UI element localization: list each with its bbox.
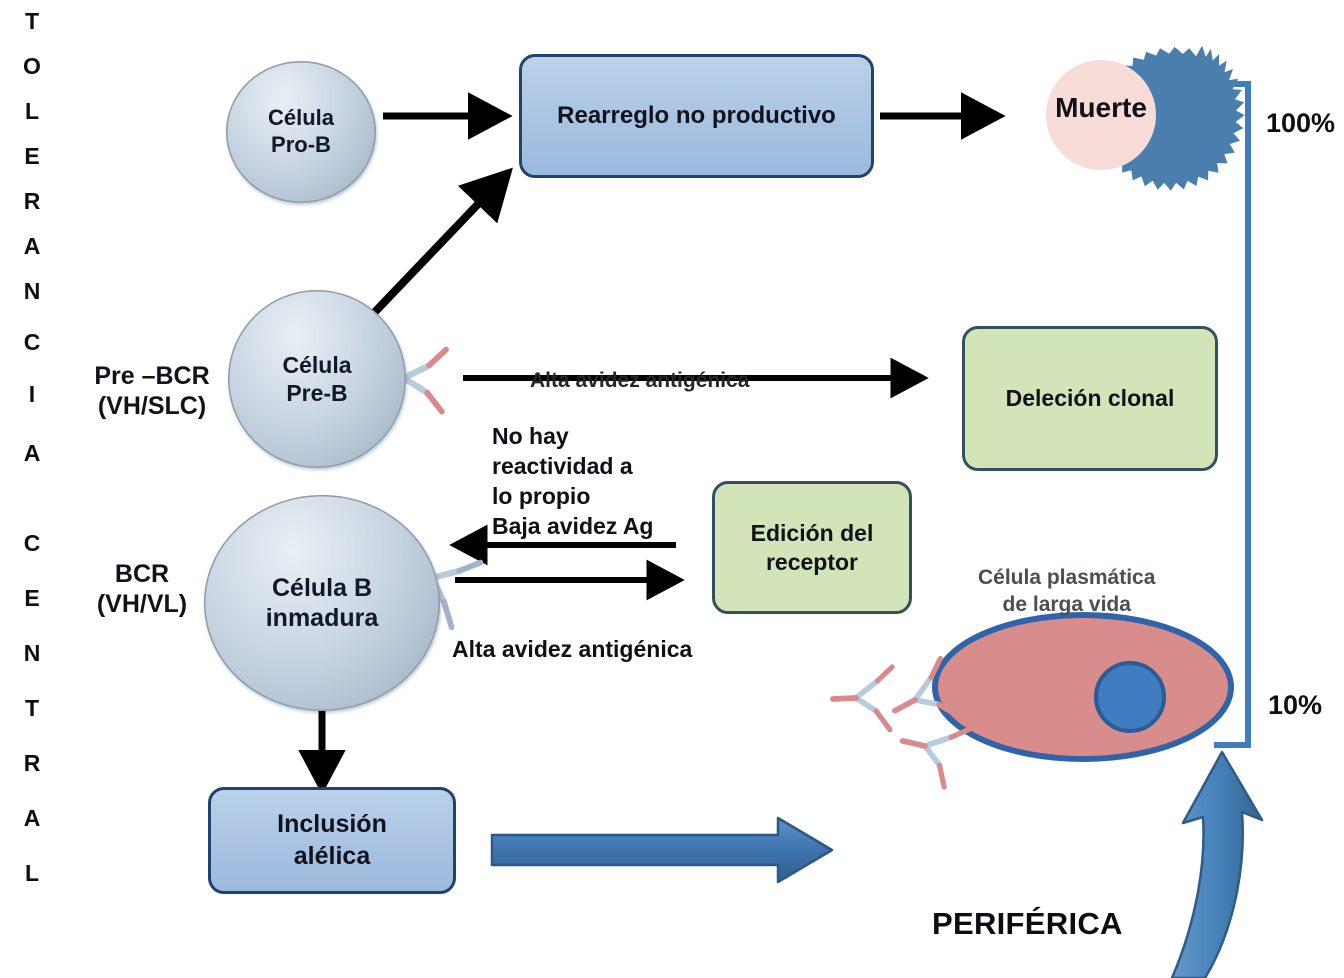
label-bcr-text: BCR (VH/VL) bbox=[97, 560, 187, 619]
label-bcr: BCR (VH/VL) bbox=[62, 528, 222, 620]
box-allelic-inclusion[interactable]: Inclusión alélica bbox=[208, 787, 456, 894]
cell-immature-b[interactable]: Célula B inmadura bbox=[204, 495, 440, 711]
death-label-text: Muerte bbox=[1055, 92, 1147, 123]
box-clonal-deletion[interactable]: Deleción clonal bbox=[962, 326, 1218, 471]
box-non-productive-rearrangement[interactable]: Rearreglo no productivo bbox=[519, 54, 874, 178]
cell-pro-b-label: Célula Pro-B bbox=[268, 105, 334, 159]
cell-pro-b[interactable]: Célula Pro-B bbox=[226, 61, 376, 203]
label-high-avidity-bottom: Alta avidez antigénica bbox=[452, 605, 692, 665]
label-pre-bcr: Pre –BCR (VH/SLC) bbox=[72, 330, 232, 422]
label-periferica-text: PERIFÉRICA bbox=[932, 906, 1123, 941]
box-allelic-inclusion-label: Inclusión alélica bbox=[277, 809, 387, 872]
label-high-avidity-top: Alta avidez antigénica bbox=[530, 340, 749, 395]
antibody-icon-secreted bbox=[829, 667, 905, 740]
diagram-canvas: T O L E R A N C I A C E N T R A L bbox=[0, 0, 1344, 978]
box-receptor-editing-label: Edición del receptor bbox=[751, 519, 874, 577]
antibody-icon-secreted bbox=[897, 720, 969, 789]
label-high-avidity-bottom-text: Alta avidez antigénica bbox=[452, 636, 692, 662]
death-burst-label: Muerte bbox=[1026, 92, 1176, 124]
label-no-self-reactivity-text: No hay reactividad a lo propio Baja avid… bbox=[492, 423, 653, 539]
box-non-productive-label: Rearreglo no productivo bbox=[557, 102, 836, 130]
cell-immature-b-label: Célula B inmadura bbox=[266, 573, 379, 634]
box-clonal-deletion-label: Deleción clonal bbox=[1006, 384, 1175, 413]
label-plasma-cell: Célula plasmática de larga vida bbox=[978, 538, 1155, 619]
scale-label-bottom-text: 10% bbox=[1268, 690, 1322, 720]
curved-arrow-periphery bbox=[1172, 752, 1262, 978]
label-plasma-cell-text: Célula plasmática de larga vida bbox=[978, 566, 1155, 616]
label-periferica: PERIFÉRICA bbox=[932, 906, 1123, 942]
scale-label-bottom: 10% bbox=[1268, 690, 1322, 721]
arrow-preb-to-nonproductive bbox=[372, 178, 503, 315]
cell-pre-b-label: Célula Pre-B bbox=[282, 351, 351, 407]
block-arrow-to-periphery bbox=[492, 818, 832, 882]
scale-bracket bbox=[1214, 84, 1248, 745]
scale-label-top: 100% bbox=[1266, 108, 1335, 139]
plasma-cell bbox=[935, 615, 1231, 759]
cell-pre-b[interactable]: Célula Pre-B bbox=[228, 290, 406, 468]
label-high-avidity-top-text: Alta avidez antigénica bbox=[530, 369, 749, 392]
scale-label-top-text: 100% bbox=[1266, 108, 1335, 138]
box-receptor-editing[interactable]: Edición del receptor bbox=[712, 481, 912, 614]
label-pre-bcr-text: Pre –BCR (VH/SLC) bbox=[94, 362, 209, 421]
label-no-self-reactivity: No hay reactividad a lo propio Baja avid… bbox=[492, 392, 653, 541]
